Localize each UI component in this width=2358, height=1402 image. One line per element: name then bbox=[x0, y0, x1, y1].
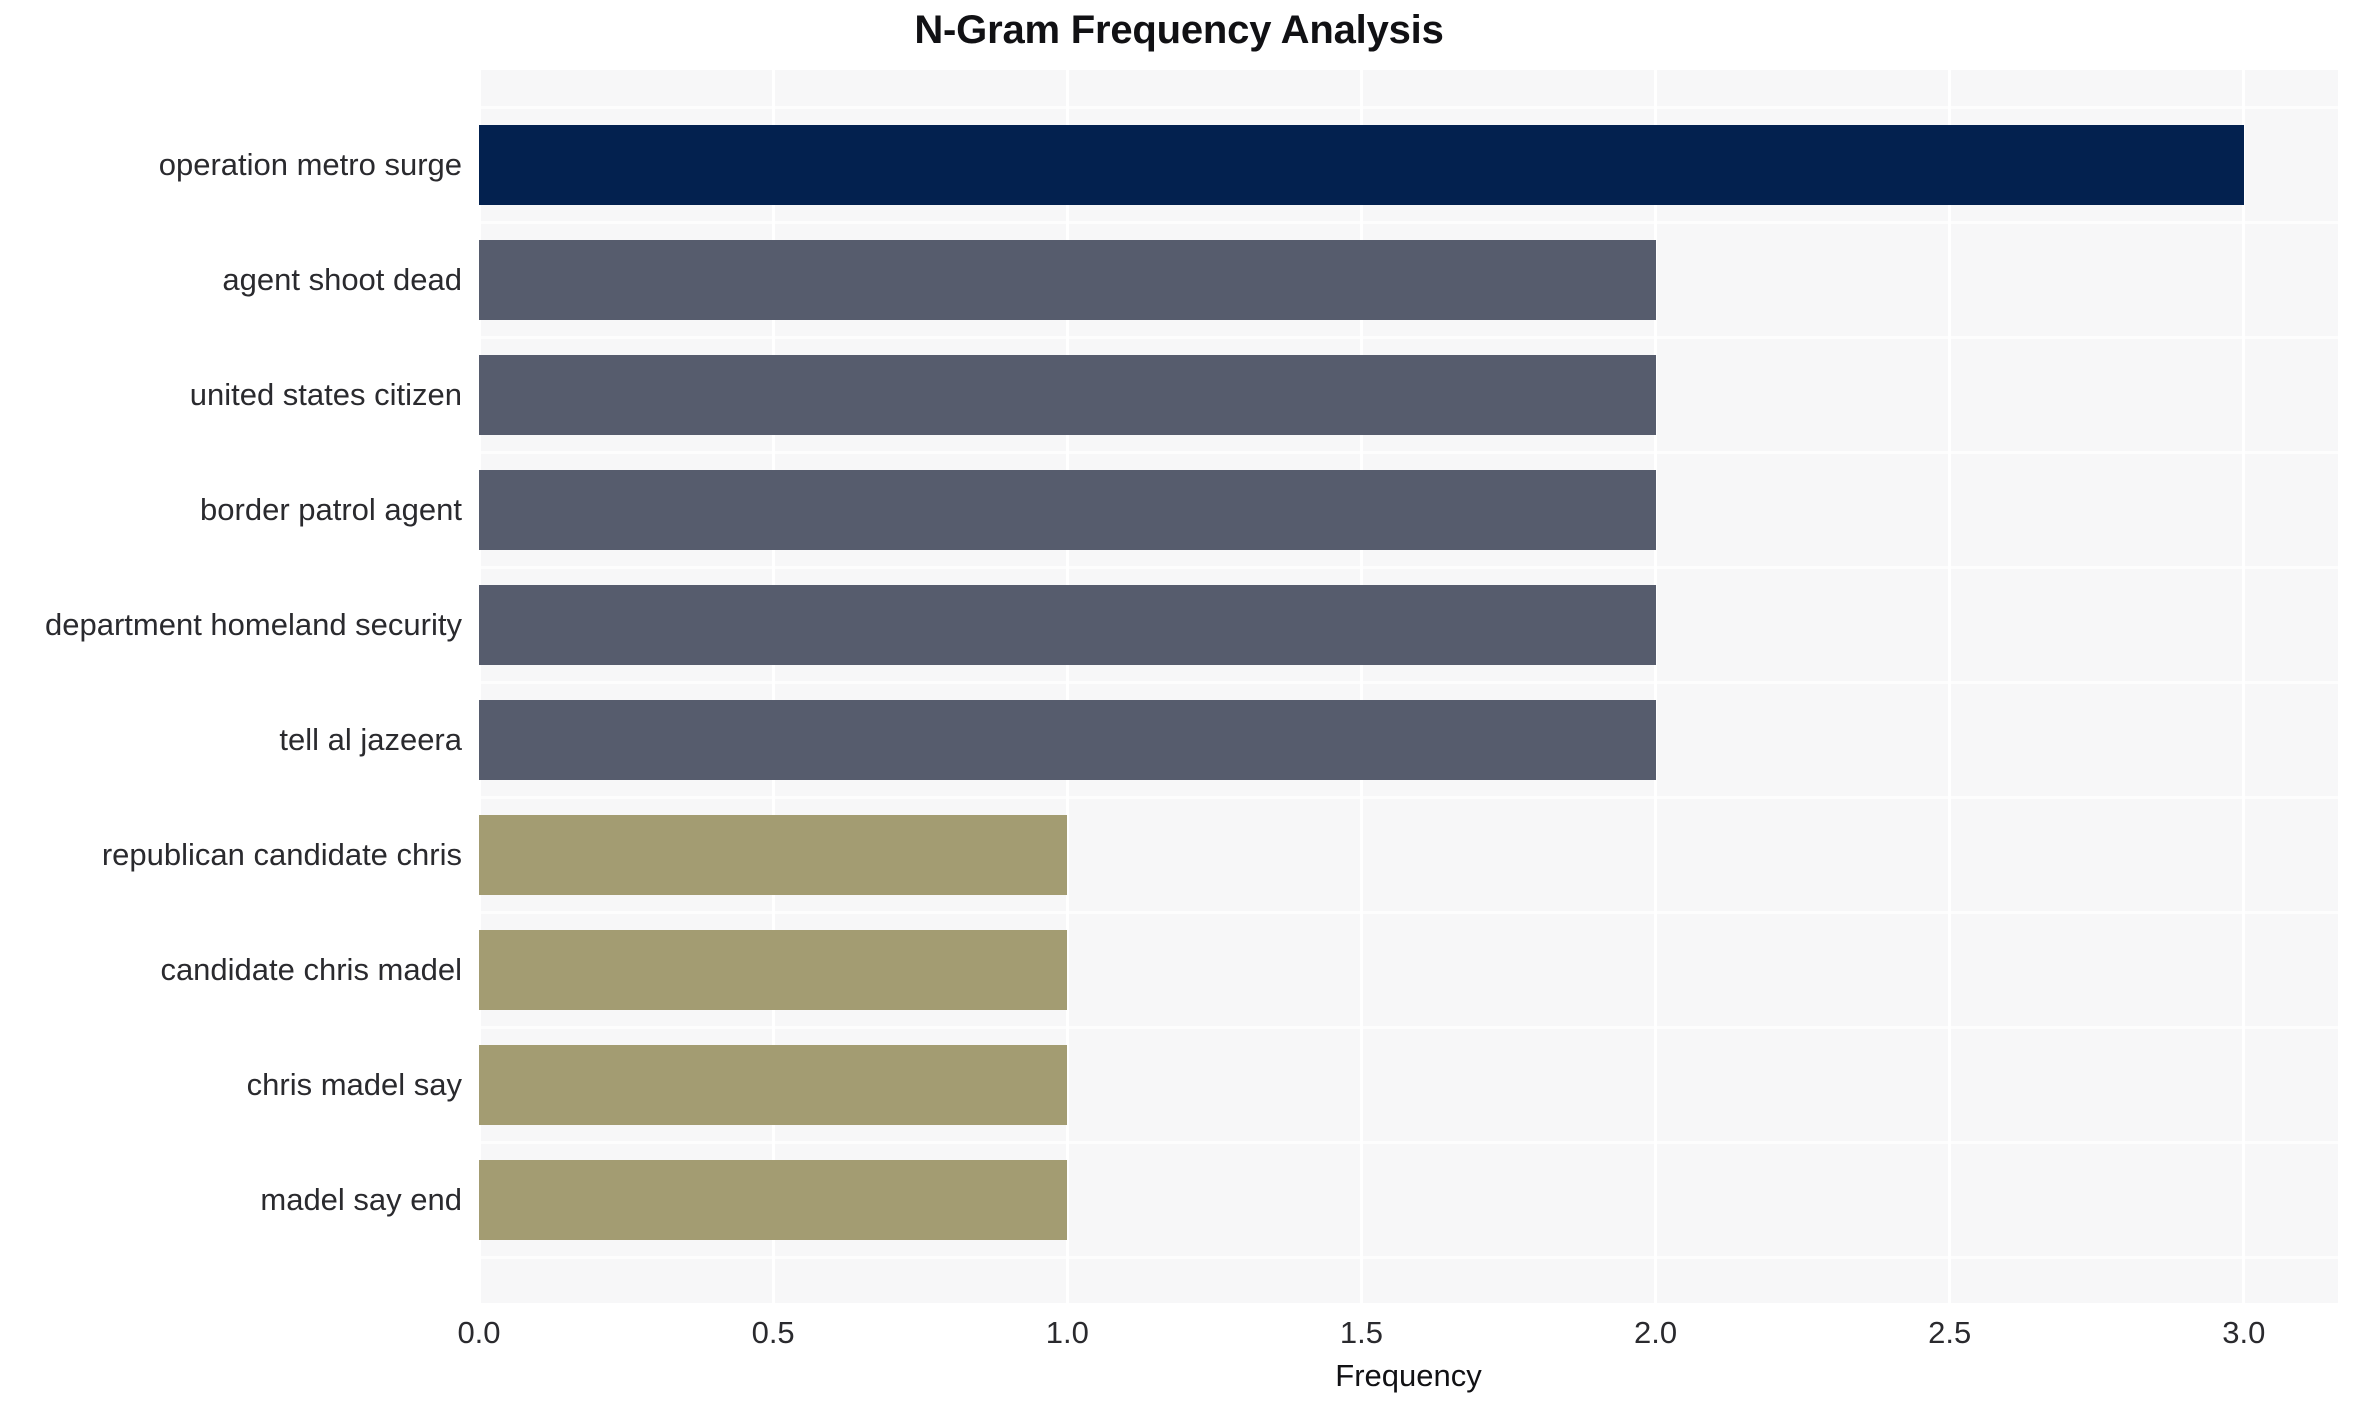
x-axis-tick-label: 0.0 bbox=[419, 1315, 539, 1351]
bar[interactable] bbox=[479, 470, 1656, 550]
gridline-horizontal bbox=[479, 221, 2338, 224]
y-axis-tick-label: chris madel say bbox=[0, 1045, 462, 1125]
bar[interactable] bbox=[479, 125, 2244, 205]
gridline-vertical bbox=[2242, 70, 2245, 1303]
y-axis-tick-label: republican candidate chris bbox=[0, 815, 462, 895]
chart-title: N-Gram Frequency Analysis bbox=[0, 8, 2358, 53]
x-axis-tick-label: 2.0 bbox=[1596, 1315, 1716, 1351]
gridline-horizontal bbox=[479, 566, 2338, 569]
gridline-horizontal bbox=[479, 1256, 2338, 1259]
gridline-horizontal bbox=[479, 451, 2338, 454]
y-axis-tick-label: department homeland security bbox=[0, 585, 462, 665]
y-axis-tick-label: madel say end bbox=[0, 1160, 462, 1240]
x-axis-tick-label: 3.0 bbox=[2184, 1315, 2304, 1351]
plot-area bbox=[479, 70, 2338, 1303]
y-axis-tick-label: operation metro surge bbox=[0, 125, 462, 205]
gridline-horizontal bbox=[479, 1026, 2338, 1029]
chart-figure: N-Gram Frequency Analysis operation metr… bbox=[0, 0, 2358, 1402]
gridline-horizontal bbox=[479, 796, 2338, 799]
bar[interactable] bbox=[479, 1160, 1067, 1240]
gridline-horizontal bbox=[479, 106, 2338, 109]
y-axis-tick-label: agent shoot dead bbox=[0, 240, 462, 320]
bar[interactable] bbox=[479, 355, 1656, 435]
bar[interactable] bbox=[479, 240, 1656, 320]
bar[interactable] bbox=[479, 700, 1656, 780]
gridline-vertical bbox=[1948, 70, 1951, 1303]
bar[interactable] bbox=[479, 1045, 1067, 1125]
gridline-horizontal bbox=[479, 1141, 2338, 1144]
bar[interactable] bbox=[479, 585, 1656, 665]
x-axis-tick-label: 0.5 bbox=[713, 1315, 833, 1351]
x-axis-tick-label: 1.5 bbox=[1301, 1315, 1421, 1351]
bar[interactable] bbox=[479, 930, 1067, 1010]
gridline-horizontal bbox=[479, 336, 2338, 339]
x-axis-title: Frequency bbox=[479, 1358, 2338, 1394]
x-axis-tick-label: 1.0 bbox=[1007, 1315, 1127, 1351]
y-axis-tick-label: tell al jazeera bbox=[0, 700, 462, 780]
gridline-horizontal bbox=[479, 911, 2338, 914]
x-axis-tick-label: 2.5 bbox=[1890, 1315, 2010, 1351]
bar[interactable] bbox=[479, 815, 1067, 895]
y-axis-tick-label: candidate chris madel bbox=[0, 930, 462, 1010]
y-axis-tick-label: border patrol agent bbox=[0, 470, 462, 550]
gridline-horizontal bbox=[479, 681, 2338, 684]
y-axis-tick-label: united states citizen bbox=[0, 355, 462, 435]
